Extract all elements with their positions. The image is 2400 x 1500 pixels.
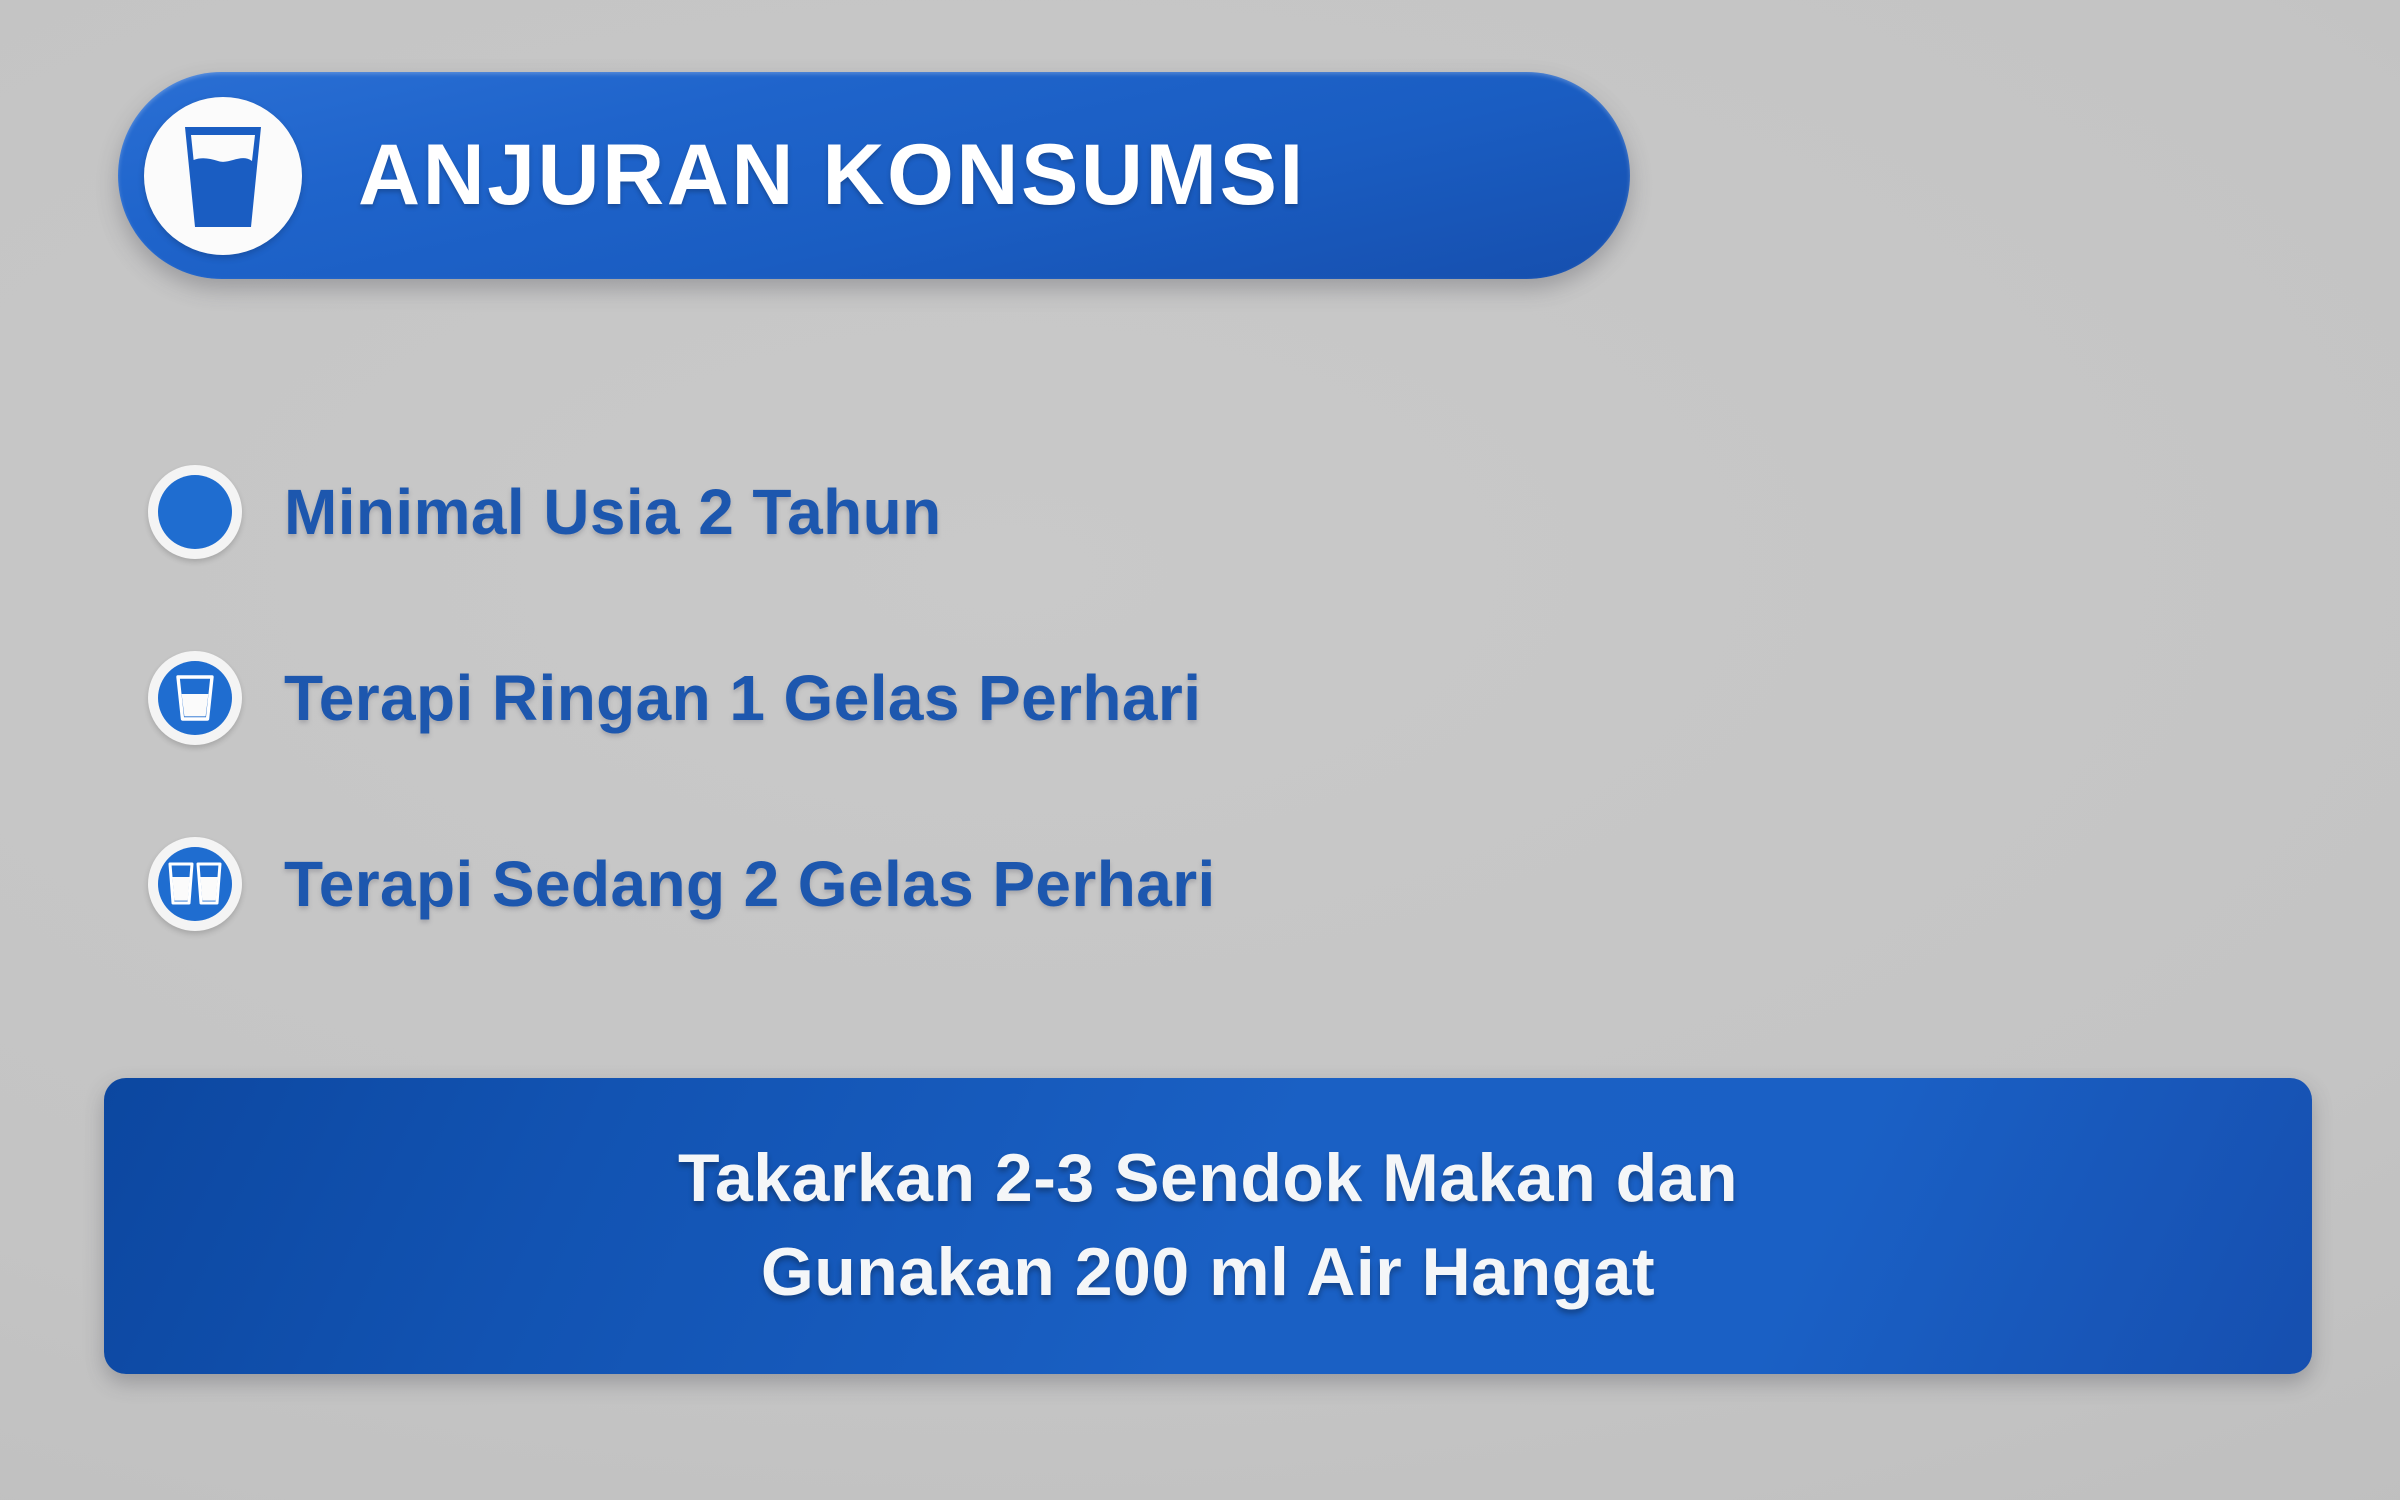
poster-canvas: ANJURAN KONSUMSI Minimal Usia 2 Tahun Te…	[0, 0, 2400, 1500]
two-glasses-icon	[148, 837, 242, 931]
dosage-banner: Takarkan 2-3 Sendok Makan dan Gunakan 20…	[104, 1078, 2312, 1374]
list-item: Terapi Sedang 2 Gelas Perhari	[148, 824, 2148, 944]
one-glass-icon	[148, 651, 242, 745]
dosage-line-1: Takarkan 2-3 Sendok Makan dan	[678, 1132, 1738, 1226]
page-title: ANJURAN KONSUMSI	[358, 126, 1306, 225]
recommendation-list: Minimal Usia 2 Tahun Terapi Ringan 1 Gel…	[148, 452, 2148, 944]
list-item-label: Minimal Usia 2 Tahun	[284, 475, 942, 549]
water-glass-icon	[144, 97, 302, 255]
list-item-label: Terapi Ringan 1 Gelas Perhari	[284, 661, 1201, 735]
header-banner: ANJURAN KONSUMSI	[118, 72, 1630, 279]
dosage-line-2: Gunakan 200 ml Air Hangat	[761, 1226, 1655, 1320]
list-item: Terapi Ringan 1 Gelas Perhari	[148, 638, 2148, 758]
list-item: Minimal Usia 2 Tahun	[148, 452, 2148, 572]
filled-circle-icon	[148, 465, 242, 559]
list-item-label: Terapi Sedang 2 Gelas Perhari	[284, 847, 1216, 921]
